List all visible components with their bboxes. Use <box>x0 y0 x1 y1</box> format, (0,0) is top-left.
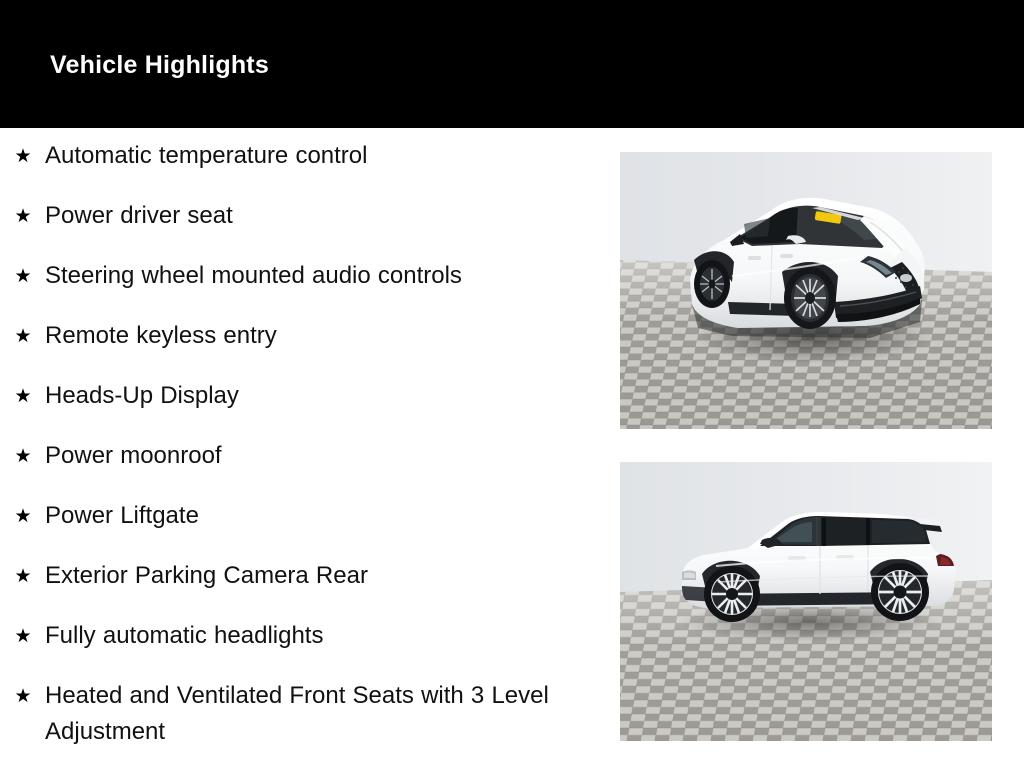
list-item: ★ Power moonroof <box>0 428 610 488</box>
highlight-label: Exterior Parking Camera Rear <box>45 558 368 594</box>
list-item: ★ Remote keyless entry <box>0 308 610 368</box>
brand-badge <box>900 274 912 282</box>
star-bullet-icon: ★ <box>14 626 32 648</box>
rear-wheel <box>694 260 730 308</box>
highlight-label: Remote keyless entry <box>45 318 277 354</box>
highlight-label: Heads-Up Display <box>45 378 239 414</box>
list-item: ★ Heads-Up Display <box>0 368 610 428</box>
highlight-label: Power driver seat <box>45 198 233 234</box>
star-bullet-icon: ★ <box>14 146 32 168</box>
highlight-label: Automatic temperature control <box>45 138 367 174</box>
front-wheel <box>784 267 836 329</box>
vehicle-photo-front-three-quarter[interactable] <box>620 152 992 429</box>
page-title: Vehicle Highlights <box>50 50 269 80</box>
star-bullet-icon: ★ <box>14 266 32 288</box>
list-item: ★ Heated and Ventilated Front Seats with… <box>0 668 610 744</box>
vehicle-highlights-list: ★ Automatic temperature control ★ Power … <box>0 128 610 744</box>
star-bullet-icon: ★ <box>14 326 32 348</box>
list-item: ★ Automatic temperature control <box>0 128 610 188</box>
highlight-label: Heated and Ventilated Front Seats with 3… <box>45 678 575 750</box>
list-item: ★ Exterior Parking Camera Rear <box>0 548 610 608</box>
star-bullet-icon: ★ <box>14 446 32 468</box>
list-item: ★ Fully automatic headlights <box>0 608 610 668</box>
vehicle-photo-front-three-quarter-graphic <box>620 152 992 429</box>
list-item: ★ Power driver seat <box>0 188 610 248</box>
star-bullet-icon: ★ <box>14 566 32 588</box>
highlight-label: Steering wheel mounted audio controls <box>45 258 462 294</box>
star-bullet-icon: ★ <box>14 206 32 228</box>
front-wheel-profile <box>704 566 760 622</box>
highlight-label: Fully automatic headlights <box>45 618 323 654</box>
vehicle-photo-driver-side-profile[interactable] <box>620 462 992 741</box>
vehicle-photo-driver-side-profile-graphic <box>620 462 992 741</box>
rear-wheel-profile <box>871 563 929 621</box>
list-item: ★ Power Liftgate <box>0 488 610 548</box>
list-item: ★ Steering wheel mounted audio controls <box>0 248 610 308</box>
star-bullet-icon: ★ <box>14 686 32 708</box>
star-bullet-icon: ★ <box>14 506 32 528</box>
star-bullet-icon: ★ <box>14 386 32 408</box>
header-banner: Vehicle Highlights <box>0 0 1024 128</box>
highlight-label: Power moonroof <box>45 438 222 474</box>
highlight-label: Power Liftgate <box>45 498 199 534</box>
